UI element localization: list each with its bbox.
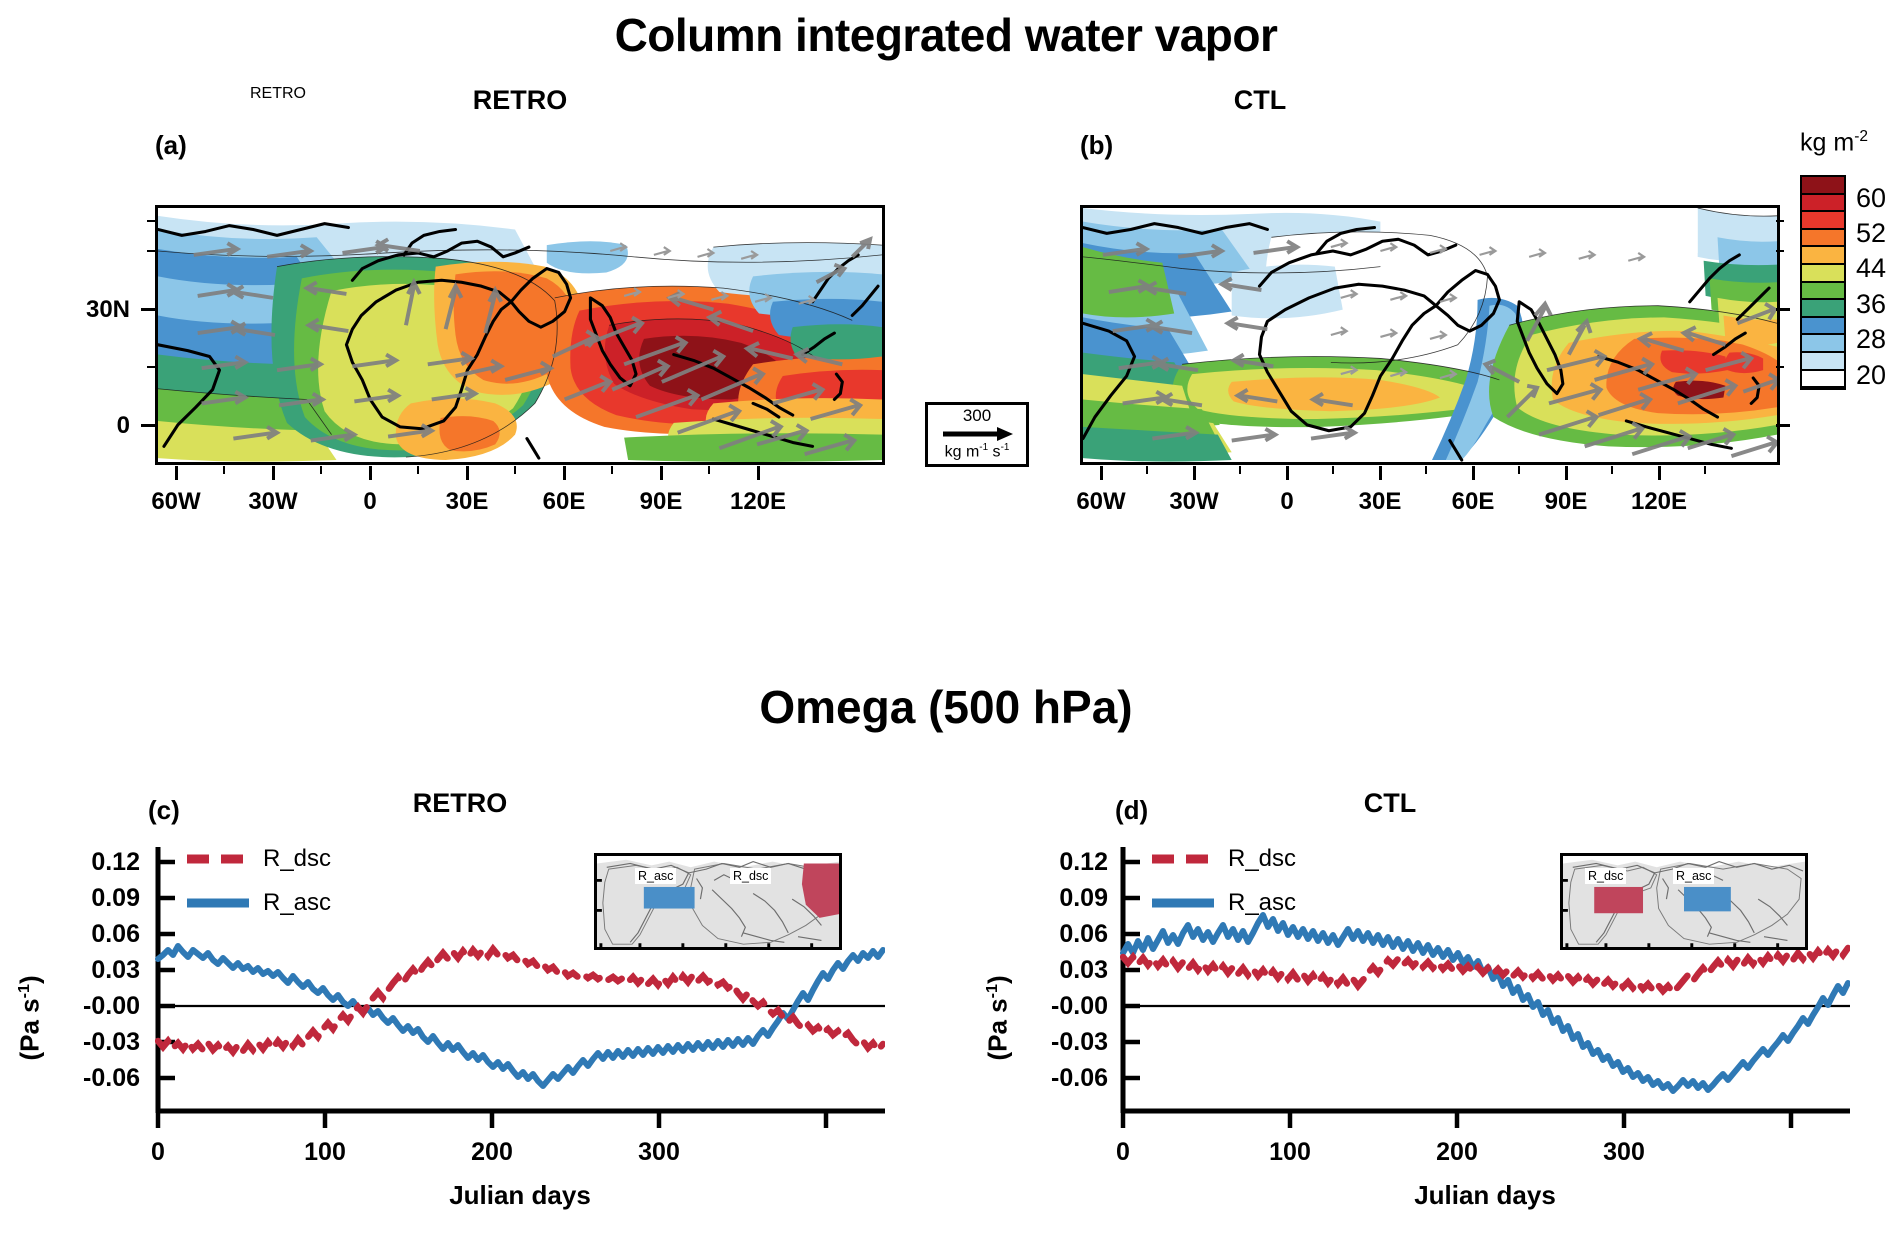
- panel-d-ytick-6: -0.06: [988, 1066, 1108, 1091]
- vector-key-arrow-icon: [939, 426, 1015, 442]
- legend-item-r-asc[interactable]: R_asc: [1150, 889, 1296, 917]
- panel-d-xtick-3: 300: [1574, 1140, 1674, 1165]
- colorbar-cell: [1802, 318, 1844, 336]
- inset-map-d[interactable]: R_dsc R_asc: [1560, 853, 1808, 950]
- map-b-contours: [1083, 208, 1777, 462]
- legend-item-r-dsc[interactable]: R_dsc: [185, 845, 331, 873]
- map-a-ytick-1: 0: [30, 412, 130, 440]
- map-a-xtick-0: 60W: [126, 488, 226, 516]
- legend-dashed-line-icon: [1150, 853, 1216, 865]
- legend-label-r-asc: R_asc: [263, 889, 331, 917]
- inset-map-c[interactable]: R_asc R_dsc: [594, 853, 842, 950]
- inset-d-tag-right: R_asc: [1673, 868, 1714, 884]
- panel-c-ytick-4: -0.00: [20, 994, 140, 1019]
- colorbar: 60 52 44 36 28 20: [1800, 175, 1846, 390]
- panel-c-xlabel: Julian days: [320, 1180, 720, 1211]
- map-a-xtick-1: 30W: [223, 488, 323, 516]
- figure-title-bottom: Omega (500 hPa): [0, 680, 1892, 734]
- colorbar-cell: [1802, 353, 1844, 371]
- figure-title-top: Column integrated water vapor: [0, 8, 1892, 62]
- panel-c-ytick-2: 0.06: [20, 922, 140, 947]
- colorbar-label-52: 52: [1856, 220, 1886, 247]
- inset-c-tag-right: R_dsc: [730, 868, 771, 884]
- panel-d-xtick-1: 100: [1240, 1140, 1340, 1165]
- colorbar-cell: [1802, 195, 1844, 213]
- panel-d-letter: (d): [1115, 795, 1148, 826]
- map-a-contours: [158, 208, 882, 462]
- colorbar-label-36: 36: [1856, 291, 1886, 318]
- panel-d-xtick-0: 0: [1073, 1140, 1173, 1165]
- map-ctl-water-vapor[interactable]: [1080, 205, 1780, 465]
- panel-d-ytick-5: -0.03: [988, 1030, 1108, 1055]
- map-b-xtick-6: 120E: [1609, 488, 1709, 516]
- map-b-xtick-0: 60W: [1051, 488, 1151, 516]
- legend-solid-line-icon: [185, 897, 251, 909]
- colorbar-label-20: 20: [1856, 362, 1886, 389]
- panel-c-ytick-1: 0.09: [20, 886, 140, 911]
- colorbar-label-60: 60: [1856, 185, 1886, 212]
- panel-d-xlabel: Julian days: [1285, 1180, 1685, 1211]
- inset-d-box-asc: [1684, 887, 1731, 911]
- panel-c-letter: (c): [148, 795, 180, 826]
- map-b-xtick-3: 30E: [1330, 488, 1430, 516]
- map-a-xtick-3: 30E: [417, 488, 517, 516]
- inset-c-tag-left: R_asc: [635, 868, 676, 884]
- colorbar-cell: [1802, 335, 1844, 353]
- legend-item-r-asc[interactable]: R_asc: [185, 889, 331, 917]
- panel-d-title-text: CTL: [1230, 788, 1550, 819]
- legend-label-r-dsc: R_dsc: [263, 845, 331, 873]
- colorbar-cell: [1802, 230, 1844, 248]
- panel-c-xtick-0: 0: [108, 1140, 208, 1165]
- panel-d-xtick-2: 200: [1407, 1140, 1507, 1165]
- legend-solid-line-icon: [1150, 897, 1216, 909]
- panel-c-xtick-3: 300: [609, 1140, 709, 1165]
- colorbar-label-28: 28: [1856, 326, 1886, 353]
- panel-a-title-text: RETRO: [360, 85, 680, 116]
- panel-c-ytick-0: 0.12: [20, 850, 140, 875]
- colorbar-cell: [1802, 283, 1844, 301]
- colorbar-cell: [1802, 247, 1844, 265]
- legend-label-r-asc: R_asc: [1228, 889, 1296, 917]
- map-retro-water-vapor[interactable]: [155, 205, 885, 465]
- map-b-xtick-1: 30W: [1144, 488, 1244, 516]
- panel-d-ytick-1: 0.09: [988, 886, 1108, 911]
- panel-c-ytick-5: -0.03: [20, 1030, 140, 1055]
- map-a-xtick-5: 90E: [611, 488, 711, 516]
- colorbar-cell: [1802, 177, 1844, 195]
- panel-d-ytick-0: 0.12: [988, 850, 1108, 875]
- colorbar-cell: [1802, 300, 1844, 318]
- map-a-xtick-2: 0: [320, 488, 420, 516]
- panel-d-ytick-3: 0.03: [988, 958, 1108, 983]
- inset-d-box-dsc: [1594, 887, 1643, 913]
- vector-key-magnitude: 300: [928, 407, 1026, 424]
- map-a-xtick-4: 60E: [514, 488, 614, 516]
- legend-dashed-line-icon: [185, 853, 251, 865]
- map-b-xtick-5: 90E: [1516, 488, 1616, 516]
- panel-d-ytick-4: -0.00: [988, 994, 1108, 1019]
- map-b-xtick-2: 0: [1237, 488, 1337, 516]
- legend-item-r-dsc[interactable]: R_dsc: [1150, 845, 1296, 873]
- panel-c-ytick-3: 0.03: [20, 958, 140, 983]
- panel-c-ytick-6: -0.06: [20, 1066, 140, 1091]
- colorbar-cell: [1802, 212, 1844, 230]
- panel-a-letter: (a): [155, 130, 187, 161]
- colorbar-label-44: 44: [1856, 255, 1886, 282]
- panel-b-letter: (b): [1080, 130, 1113, 161]
- map-a-xtick-6: 120E: [708, 488, 808, 516]
- panel-c-xtick-1: 100: [275, 1140, 375, 1165]
- panel-c-title-text: RETRO: [300, 788, 620, 819]
- inset-d-tag-left: R_dsc: [1585, 868, 1626, 884]
- panel-c-xtick-2: 200: [442, 1140, 542, 1165]
- legend-label-r-dsc: R_dsc: [1228, 845, 1296, 873]
- inset-c-box-asc: [644, 887, 695, 909]
- colorbar-cell: [1802, 265, 1844, 283]
- chart-c-legend: R_dsc R_asc: [185, 845, 331, 917]
- inset-c-svg: [597, 856, 839, 947]
- colorbar-cell: [1802, 371, 1844, 389]
- map-a-ytick-0: 30N: [30, 296, 130, 324]
- map-b-xtick-4: 60E: [1423, 488, 1523, 516]
- chart-d-legend: R_dsc R_asc: [1150, 845, 1296, 917]
- panel-d-ytick-2: 0.06: [988, 922, 1108, 947]
- vector-scale-key: 300 kg m-1 s-1: [925, 402, 1029, 467]
- vector-key-units: kg m-1 s-1: [928, 443, 1026, 461]
- colorbar-units-label: kg m-2: [1800, 128, 1868, 157]
- panel-b-title-text: CTL: [1100, 85, 1420, 116]
